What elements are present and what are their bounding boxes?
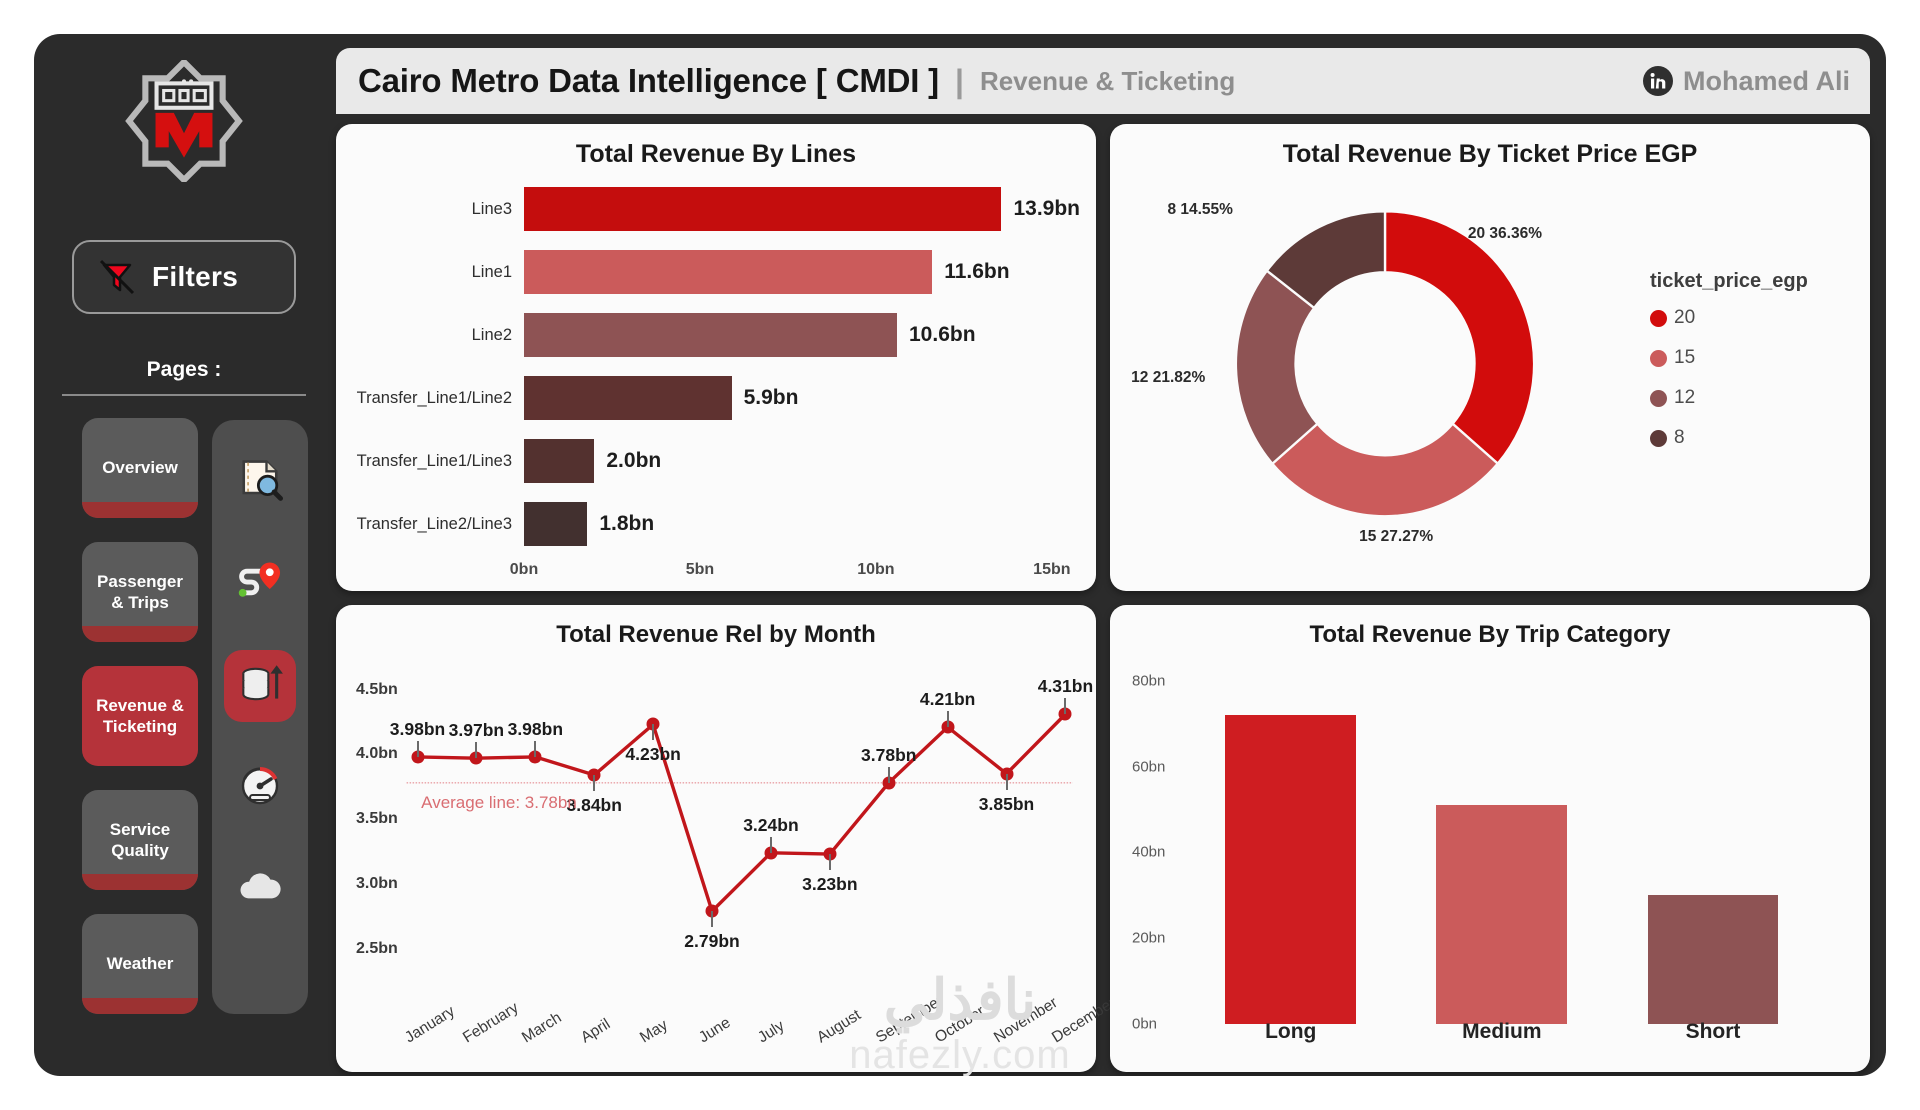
document-search-icon (234, 454, 286, 511)
label-leader-line (888, 767, 890, 783)
line-value-label: 3.78bn (861, 745, 916, 766)
bar-row[interactable]: Line111.6bn (352, 246, 1080, 298)
bar-category-label: Transfer_Line1/Line2 (352, 389, 524, 408)
card-revenue-by-ticket-price: Total Revenue By Ticket Price EGP 20 36.… (1110, 124, 1870, 591)
page-title: Cairo Metro Data Intelligence [ CMDI ] (358, 62, 939, 100)
bar-fill[interactable] (1436, 805, 1567, 1024)
legend-swatch (1650, 390, 1667, 407)
label-leader-line (475, 742, 477, 758)
gauge-speedometer-icon-slot[interactable] (224, 752, 296, 824)
legend-item[interactable]: 15 (1650, 347, 1854, 369)
bar-column[interactable] (1225, 715, 1356, 1024)
line-value-label: 3.98bn (508, 719, 563, 740)
chart-title-trip-category: Total Revenue By Trip Category (1126, 621, 1854, 649)
nav-area: Overview Passenger & Trips Revenue & Tic… (34, 418, 334, 1014)
bar-row[interactable]: Line313.9bn (352, 183, 1080, 235)
bar-track: 10.6bn (524, 309, 1080, 361)
donut-slice[interactable] (1385, 211, 1534, 463)
sidebar-item-revenue-ticketing[interactable]: Revenue & Ticketing (82, 666, 198, 766)
funnel-slash-icon (94, 254, 140, 300)
legend-swatch (1650, 430, 1667, 447)
gauge-speedometer-icon (236, 762, 284, 815)
bar-category-label: Medium (1436, 1020, 1567, 1044)
line-value-label: 3.23bn (802, 874, 857, 895)
sidebar-item-passenger-trips[interactable]: Passenger & Trips (82, 542, 198, 642)
label-leader-line (711, 911, 713, 927)
chart-revenue-by-lines: Line313.9bnLine111.6bnLine210.6bnTransfe… (352, 169, 1080, 568)
sidebar-item-service-quality[interactable]: Service Quality (82, 790, 198, 890)
card-revenue-by-trip-category: Total Revenue By Trip Category 0bn20bn40… (1110, 605, 1870, 1072)
bar-value-label: 5.9bn (744, 386, 799, 410)
line-value-label: 4.23bn (625, 744, 680, 765)
donut-slice[interactable] (1272, 424, 1497, 517)
line-value-label: 3.97bn (449, 720, 504, 741)
label-leader-line (1064, 698, 1066, 714)
user-chip[interactable]: Mohamed Ali (1643, 66, 1850, 97)
x-tick-label: 0bn (510, 561, 538, 579)
x-axis: 0bn5bn10bn15bn (352, 561, 1080, 581)
chart-title-revenue-by-month: Total Revenue Rel by Month (352, 621, 1080, 649)
database-growth-icon-slot[interactable] (224, 650, 296, 722)
title-separator: | (955, 63, 964, 100)
page-subtitle: Revenue & Ticketing (980, 66, 1235, 97)
y-tick-label: 60bn (1132, 758, 1165, 775)
line-value-label: 3.98bn (390, 719, 445, 740)
bar-category-label: Short (1648, 1020, 1779, 1044)
bar-value-label: 13.9bn (1013, 197, 1080, 221)
y-tick-label: 80bn (1132, 672, 1165, 689)
donut-plot: 20 36.36%15 27.27%12 21.82%8 14.55% (1126, 169, 1644, 568)
x-tick-label: 15bn (1033, 561, 1070, 579)
bar-column[interactable] (1648, 895, 1779, 1024)
route-pin-icon-slot[interactable] (224, 548, 296, 620)
filters-button[interactable]: Filters (72, 240, 296, 314)
bar-fill[interactable] (524, 313, 897, 357)
bar-category-label: Transfer_Line1/Line3 (352, 452, 524, 471)
legend-item[interactable]: 12 (1650, 387, 1854, 409)
logo-wrap (34, 60, 334, 182)
line-value-label: 4.31bn (1038, 676, 1093, 697)
legend-label: 12 (1674, 387, 1695, 409)
legend-item[interactable]: 8 (1650, 427, 1854, 449)
label-leader-line (534, 741, 536, 757)
bar-category-label: Line3 (352, 200, 524, 219)
bar-fill[interactable] (524, 502, 587, 546)
bar-fill[interactable] (524, 439, 594, 483)
document-search-icon-slot[interactable] (224, 446, 296, 518)
bar-fill[interactable] (1648, 895, 1779, 1024)
label-leader-line (829, 854, 831, 870)
legend-label: 15 (1674, 347, 1695, 369)
bar-track: 13.9bn (524, 183, 1080, 235)
legend-label: 20 (1674, 307, 1695, 329)
sidebar-divider (62, 394, 306, 396)
bar-fill[interactable] (524, 376, 732, 420)
dashboard-root: Filters Pages : Overview Passenger & Tri… (34, 34, 1886, 1076)
donut-callout-label: 12 21.82% (1131, 369, 1205, 387)
bar-fill[interactable] (524, 187, 1001, 231)
nav-button-column: Overview Passenger & Trips Revenue & Tic… (82, 418, 198, 1014)
pages-label: Pages : (34, 358, 334, 382)
legend-swatch (1650, 310, 1667, 327)
cloud-icon-slot[interactable] (224, 854, 296, 926)
charts-grid: Total Revenue By Lines Line313.9bnLine11… (336, 114, 1870, 1072)
sidebar-item-overview[interactable]: Overview (82, 418, 198, 518)
bar-row[interactable]: Transfer_Line1/Line32.0bn (352, 435, 1080, 487)
nav-icon-column (212, 420, 308, 1014)
cloud-icon (235, 863, 285, 918)
route-pin-icon (234, 556, 286, 613)
cairo-metro-logo (123, 60, 245, 182)
bar-column[interactable] (1436, 805, 1567, 1024)
chart-title-ticket-price: Total Revenue By Ticket Price EGP (1126, 140, 1854, 169)
bar-value-label: 1.8bn (599, 512, 654, 536)
line-value-label: 3.24bn (743, 815, 798, 836)
card-revenue-by-lines: Total Revenue By Lines Line313.9bnLine11… (336, 124, 1096, 591)
sidebar: Filters Pages : Overview Passenger & Tri… (34, 34, 334, 1076)
x-tick-label: 10bn (857, 561, 894, 579)
bar-row[interactable]: Transfer_Line1/Line25.9bn (352, 372, 1080, 424)
bar-row[interactable]: Transfer_Line2/Line31.8bn (352, 498, 1080, 550)
legend-item[interactable]: 20 (1650, 307, 1854, 329)
bar-category-label: Transfer_Line2/Line3 (352, 515, 524, 534)
average-line-label: Average line: 3.78bn (421, 793, 577, 813)
donut-callout-label: 20 36.36% (1468, 225, 1542, 243)
user-name: Mohamed Ali (1683, 66, 1850, 97)
y-tick-label: 40bn (1132, 844, 1165, 861)
donut-callout-label: 8 14.55% (1167, 201, 1233, 219)
y-tick-label: 0bn (1132, 1016, 1157, 1033)
bar-track: 1.8bn (524, 498, 1080, 550)
legend-label: 8 (1674, 427, 1685, 449)
bar-value-label: 2.0bn (606, 449, 661, 473)
chart-revenue-by-ticket-price: 20 36.36%15 27.27%12 21.82%8 14.55% tick… (1126, 169, 1854, 568)
label-leader-line (652, 724, 654, 740)
bar-track: 5.9bn (524, 372, 1080, 424)
y-tick-label: 20bn (1132, 930, 1165, 947)
bar-track: 11.6bn (524, 246, 1080, 298)
bar-value-label: 10.6bn (909, 323, 976, 347)
line-value-label: 2.79bn (684, 931, 739, 952)
linkedin-icon (1643, 66, 1673, 96)
filters-label: Filters (152, 261, 238, 293)
bar-category-label: Line2 (352, 326, 524, 345)
donut-callout-label: 15 27.27% (1359, 528, 1433, 546)
bar-category-label: Long (1225, 1020, 1356, 1044)
legend-title: ticket_price_egp (1650, 270, 1854, 293)
label-leader-line (593, 775, 595, 791)
bar-track: 2.0bn (524, 435, 1080, 487)
donut-legend: ticket_price_egp 2015128 (1644, 270, 1854, 467)
label-leader-line (947, 711, 949, 727)
chart-title-revenue-by-lines: Total Revenue By Lines (352, 140, 1080, 169)
main-area: Cairo Metro Data Intelligence [ CMDI ] |… (334, 34, 1886, 1076)
bar-value-label: 11.6bn (944, 260, 1009, 284)
label-leader-line (417, 741, 419, 757)
label-leader-line (1006, 774, 1008, 790)
bar-fill[interactable] (524, 250, 932, 294)
line-value-label: 3.85bn (979, 794, 1034, 815)
legend-swatch (1650, 350, 1667, 367)
chart-revenue-by-trip-category: 0bn20bn40bn60bn80bnLongMediumShort (1126, 649, 1854, 1048)
card-revenue-by-month: Total Revenue Rel by Month 2.5bn3.0bn3.5… (336, 605, 1096, 1072)
database-growth-icon (235, 659, 285, 714)
chart-revenue-by-month: 2.5bn3.0bn3.5bn4.0bn4.5bn3.98bn3.97bn3.9… (352, 649, 1080, 1054)
line-value-label: 4.21bn (920, 689, 975, 710)
bar-row[interactable]: Line210.6bn (352, 309, 1080, 361)
sidebar-item-weather[interactable]: Weather (82, 914, 198, 1014)
label-leader-line (770, 837, 772, 853)
bar-category-label: Line1 (352, 263, 524, 282)
x-tick-label: 5bn (686, 561, 714, 579)
bar-fill[interactable] (1225, 715, 1356, 1024)
topbar: Cairo Metro Data Intelligence [ CMDI ] |… (336, 48, 1870, 114)
